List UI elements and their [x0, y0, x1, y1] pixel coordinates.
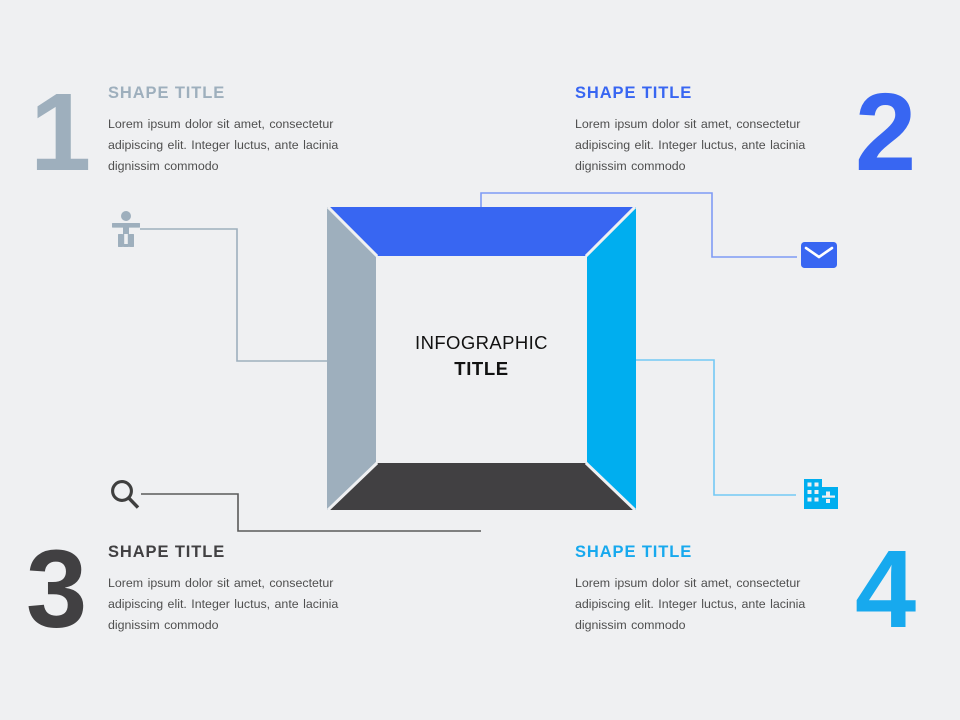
center-box-graphic: INFOGRAPHIC TITLE [327, 207, 636, 511]
box-face-top [329, 207, 634, 256]
building-icon[interactable] [803, 478, 839, 515]
step-title-2: SHAPE TITLE [575, 84, 843, 102]
step-title-4: SHAPE TITLE [575, 543, 843, 561]
step-number-2: 2 [855, 78, 914, 188]
step-body-3: Lorem ipsum dolor sit amet, consectetur … [108, 573, 376, 635]
step-number-4: 4 [855, 535, 914, 645]
step-number-1: 1 [30, 78, 89, 188]
box-face-left [327, 207, 376, 510]
envelope-icon[interactable] [801, 240, 837, 275]
search-icon[interactable] [108, 478, 142, 517]
step-body-4: Lorem ipsum dolor sit amet, consectetur … [575, 573, 843, 635]
step-text-block-3: SHAPE TITLE Lorem ipsum dolor sit amet, … [108, 543, 376, 636]
step-body-2: Lorem ipsum dolor sit amet, consectetur … [575, 114, 843, 176]
connector-line-4 [634, 360, 796, 495]
step-title-3: SHAPE TITLE [108, 543, 376, 561]
step-text-block-2: SHAPE TITLE Lorem ipsum dolor sit amet, … [575, 84, 843, 177]
box-face-bottom [329, 463, 634, 510]
connector-line-1 [140, 229, 330, 361]
person-icon[interactable] [110, 210, 142, 253]
step-text-block-4: SHAPE TITLE Lorem ipsum dolor sit amet, … [575, 543, 843, 636]
box-inner-panel [376, 256, 587, 463]
step-body-1: Lorem ipsum dolor sit amet, consectetur … [108, 114, 376, 176]
step-number-3: 3 [26, 535, 85, 645]
step-title-1: SHAPE TITLE [108, 84, 376, 102]
step-text-block-1: SHAPE TITLE Lorem ipsum dolor sit amet, … [108, 84, 376, 177]
box-face-right [587, 207, 636, 510]
infographic-slide: INFOGRAPHIC TITLE 1 SHAPE TITLE Lorem ip… [0, 0, 960, 720]
